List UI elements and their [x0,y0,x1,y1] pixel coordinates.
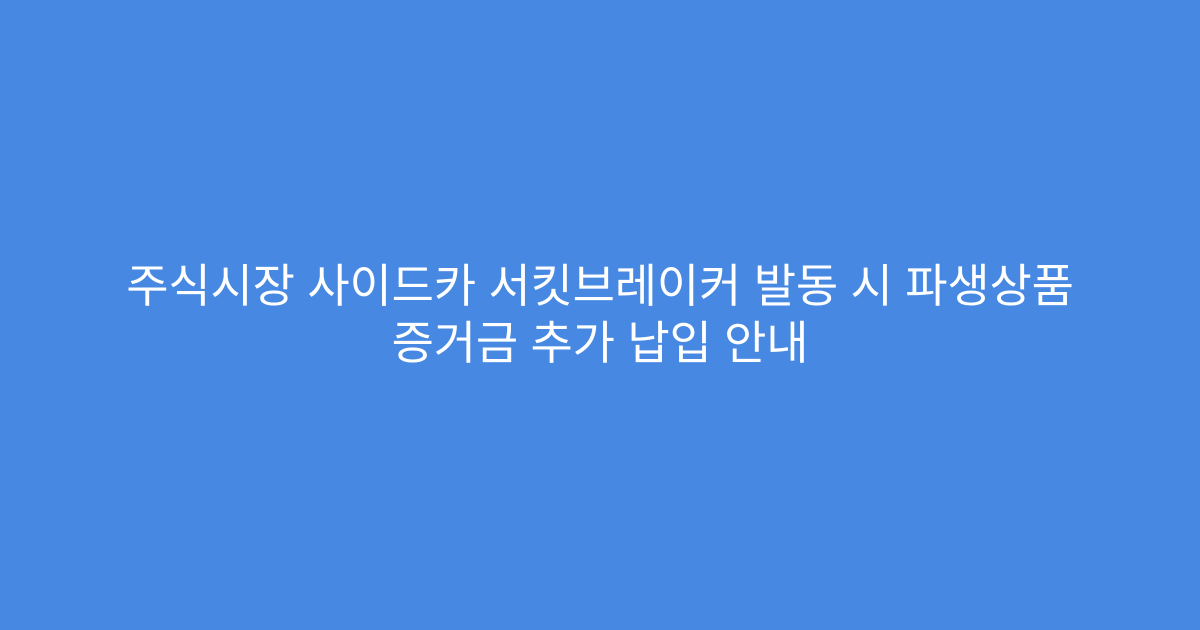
share-card: 주식시장 사이드카 서킷브레이커 발동 시 파생상품 증거금 추가 납입 안내 [0,0,1200,630]
share-card-content: 주식시장 사이드카 서킷브레이커 발동 시 파생상품 증거금 추가 납입 안내 [0,258,1200,372]
page-title: 주식시장 사이드카 서킷브레이커 발동 시 파생상품 증거금 추가 납입 안내 [56,258,1144,372]
